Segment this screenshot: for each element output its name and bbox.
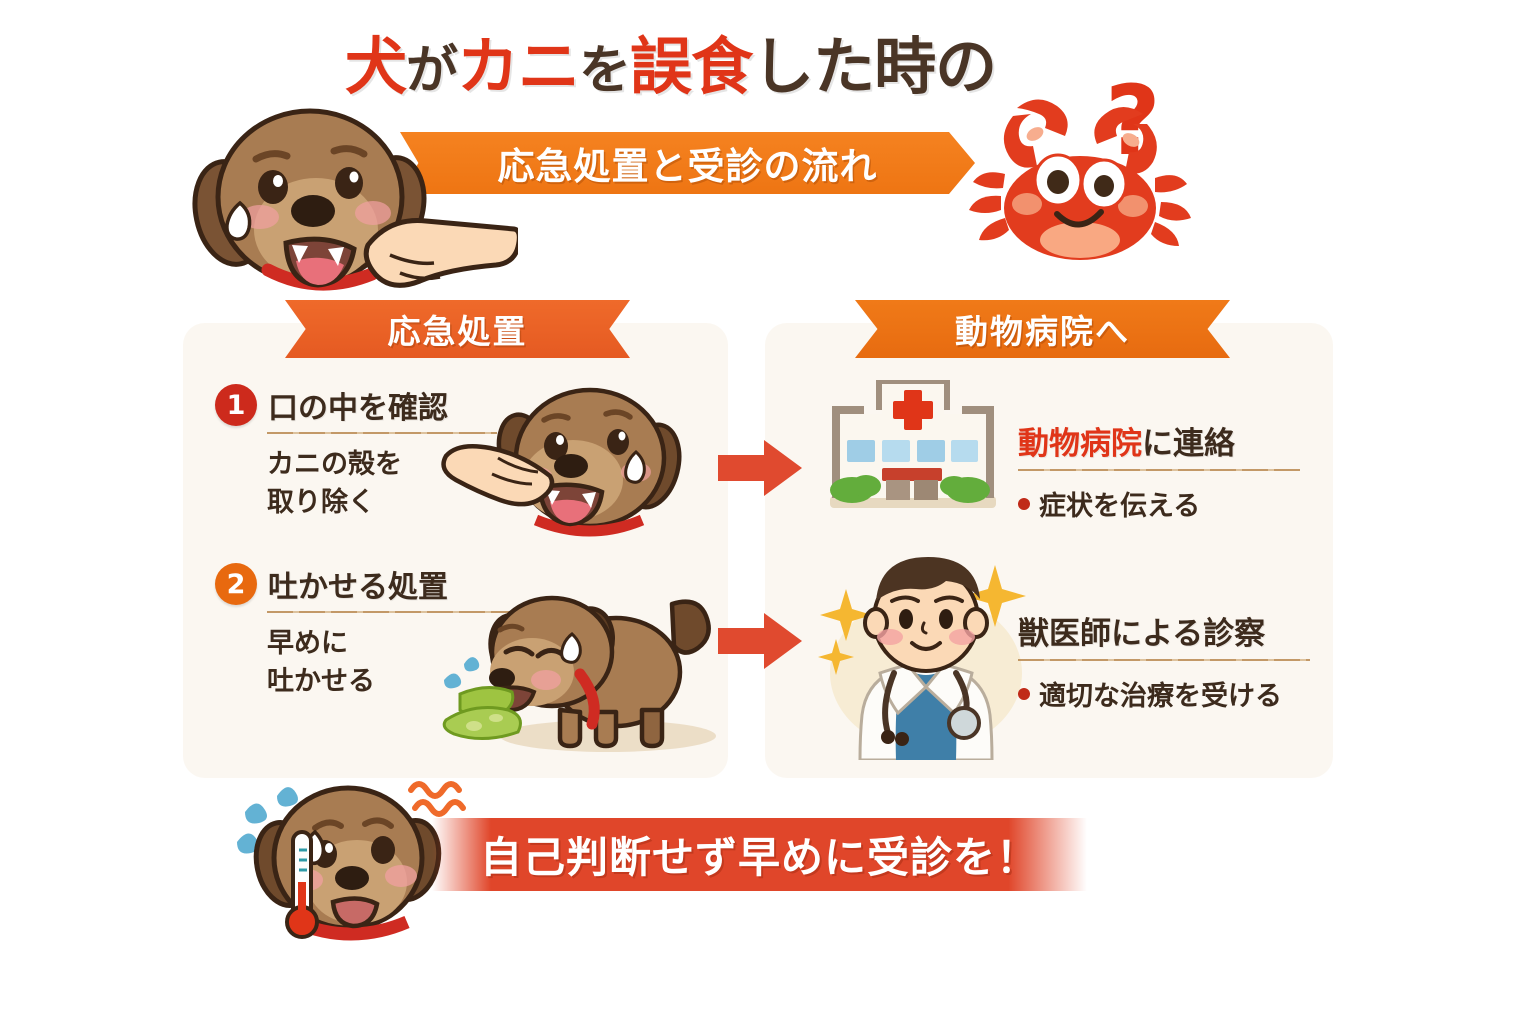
subtitle-text: 応急処置と受診の流れ	[498, 136, 878, 190]
title-part-when: した時の	[752, 30, 996, 103]
subtitle-seg-e: 流れ	[802, 145, 878, 188]
hospital-step-2: 獣医師による診察 適切な治療を受ける	[1018, 608, 1328, 713]
bottom-banner-text: 自己判断せず早めに受診を！	[480, 824, 1039, 885]
first-aid-ribbon: 応急処置	[285, 300, 630, 358]
subtitle-seg-d: の	[764, 145, 802, 188]
hospital-step-2-bullet: 適切な治療を受ける	[1039, 674, 1282, 713]
hospital-illustration	[820, 368, 1005, 533]
hospital-step-1-bullet-row: 症状を伝える	[1018, 484, 1318, 523]
step-1-title: 口の中を確認	[268, 383, 448, 427]
hospital-step-1: 動物病院に連絡 症状を伝える	[1018, 418, 1318, 523]
bullet-dot-icon	[1018, 688, 1030, 700]
infographic-canvas: 犬がカニを誤食した時の 応急処置と受診の流れ	[0, 0, 1536, 1024]
subtitle-seg-a: 応急処置	[498, 145, 650, 188]
hospital-ribbon: 動物病院へ	[855, 300, 1230, 358]
first-aid-ribbon-label: 応急処置	[388, 305, 528, 353]
arrow-step2-to-vet	[718, 613, 802, 669]
title-part-crab: カニ	[457, 30, 579, 103]
hospital-step-2-title-rest: による診察	[1111, 616, 1265, 652]
arrow-step1-to-hospital	[718, 440, 802, 496]
subtitle-seg-c: 受診	[688, 145, 764, 188]
arrow-shaft	[718, 455, 770, 481]
step-2-badge: 2	[215, 563, 257, 605]
hospital-step-1-title: 動物病院に連絡	[1018, 418, 1318, 463]
hospital-step-1-title-highlight: 動物病院	[1018, 426, 1142, 462]
step-1-illustration	[440, 380, 730, 550]
arrow-head	[764, 613, 802, 669]
crab-illustration: ?	[965, 62, 1195, 282]
step-1-badge: 1	[215, 384, 257, 426]
hospital-step-1-title-rest: に連絡	[1142, 426, 1235, 462]
hospital-step-2-title: 獣医師による診察	[1018, 608, 1328, 653]
title-part-ga: が	[406, 41, 457, 101]
hospital-ribbon-label: 動物病院へ	[955, 305, 1130, 353]
hospital-step-1-bullet: 症状を伝える	[1039, 484, 1200, 523]
title-part-ingest: 誤食	[630, 30, 752, 103]
hospital-step-2-title-highlight: 獣医師	[1018, 616, 1111, 652]
subtitle-seg-b: と	[650, 145, 688, 188]
title-part-wo: を	[579, 41, 630, 101]
bottom-banner: 自己判断せず早めに受診を！	[432, 818, 1087, 891]
vet-illustration	[818, 545, 1033, 760]
hero-dog-illustration	[168, 95, 518, 310]
arrow-shaft	[718, 628, 770, 654]
title-part-dog: 犬	[345, 30, 406, 103]
bullet-dot-icon	[1018, 498, 1030, 510]
hospital-step-2-divider	[1018, 659, 1310, 661]
arrow-head	[764, 440, 802, 496]
step-2-title: 吐かせる処置	[268, 562, 448, 606]
step-2-illustration	[440, 560, 740, 760]
hospital-step-1-divider	[1018, 469, 1300, 471]
hospital-step-2-bullet-row: 適切な治療を受ける	[1018, 674, 1328, 713]
